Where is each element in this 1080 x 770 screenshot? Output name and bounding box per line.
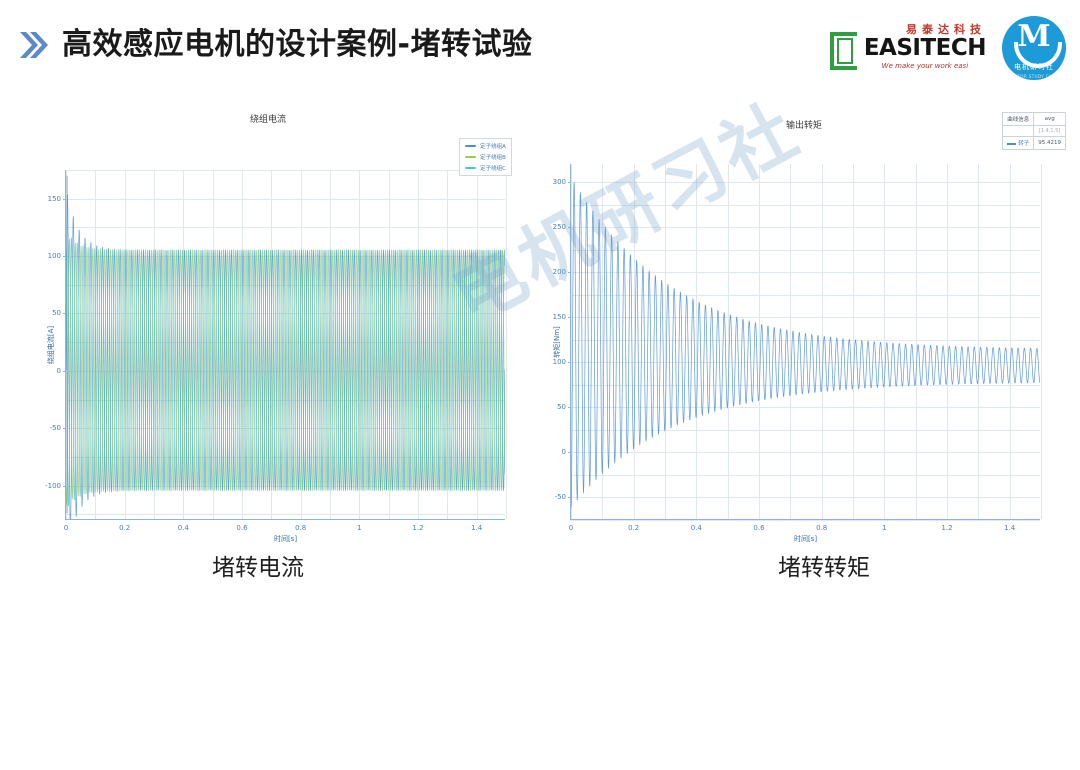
x-tick-winding-current: 0.8 [295, 519, 306, 532]
x-tick-output-torque: 0.6 [753, 519, 764, 532]
x-tick-winding-current: 1 [357, 519, 361, 532]
y-axis-label-torque: 转矩[Nm] [552, 326, 562, 358]
table-subheader-row: [1.4,1.5] [1003, 126, 1066, 137]
waveform-torque [571, 164, 1040, 519]
double-chevron-right-icon [18, 28, 48, 62]
header-avg: avg [1034, 113, 1066, 126]
logo-english-subtitle: MOTOR STUDY CLUB [1002, 74, 1066, 79]
figure-output-torque: 输出转矩 转矩[Nm] 时间[s] -500501001502002503000… [540, 112, 1068, 532]
y-tick-output-torque: 100 [553, 358, 571, 366]
header-curve-info: 曲线信息 [1003, 113, 1034, 126]
legend-label-phase-b: 定子绕组B [480, 153, 506, 161]
table-header-row: 曲线信息 avg [1003, 113, 1066, 126]
x-tick-output-torque: 0.4 [691, 519, 702, 532]
motor-study-club-logo: M 电机研习社 MOTOR STUDY CLUB [1002, 16, 1066, 80]
legend-item-phase-b[interactable]: 定子绕组B [465, 153, 506, 161]
x-tick-output-torque: 0.8 [816, 519, 827, 532]
x-tick-winding-current: 0 [64, 519, 68, 532]
easitech-chinese-name: 易泰达科技 [864, 24, 986, 35]
slide-header: 高效感应电机的设计案例-堵转试验 易泰达科技 EASITECH We make … [0, 0, 1080, 100]
x-tick-winding-current: 0.6 [236, 519, 247, 532]
plot-area-torque: 转矩[Nm] 时间[s] -5005010015020025030000.20.… [570, 164, 1040, 520]
legend-swatch-phase-c [465, 167, 476, 169]
x-axis-label-torque: 时间[s] [794, 534, 817, 544]
easitech-door-mark-icon [830, 32, 860, 72]
y-tick-winding-current: 150 [48, 195, 66, 203]
x-tick-output-torque: 0.2 [628, 519, 639, 532]
plot-area-current: 绕组电流[A] 时间[s] -100-5005010015000.20.40.6… [65, 170, 505, 520]
table-swatch-rotor [1007, 143, 1016, 145]
caption-stall-torque: 堵转转矩 [778, 548, 870, 582]
y-tick-winding-current: 0 [57, 367, 66, 375]
logo-area: 易泰达科技 EASITECH We make your work easi M … [830, 16, 1066, 80]
y-tick-output-torque: 50 [557, 403, 571, 411]
easitech-english-name: EASITECH [864, 37, 986, 60]
page-title: 高效感应电机的设计案例-堵转试验 [62, 30, 532, 60]
table-row[interactable]: 转子 95.4219 [1003, 137, 1066, 150]
chart-title-torque: 输出转矩 [540, 118, 1068, 131]
legend-item-phase-a[interactable]: 定子绕组A [465, 142, 506, 150]
legend-swatch-phase-a [465, 145, 476, 147]
y-tick-output-torque: 150 [553, 313, 571, 321]
legend-item-phase-c[interactable]: 定子绕组C [465, 164, 506, 172]
x-tick-winding-current: 1.2 [412, 519, 423, 532]
legend-label-phase-a: 定子绕组A [480, 142, 506, 150]
subheader-range: [1.4,1.5] [1034, 126, 1066, 137]
waveform-current [66, 170, 505, 519]
logo-chinese-subtitle: 电机研习社 [1002, 62, 1066, 72]
cell-curve-label: 转子 [1018, 141, 1029, 147]
figure-winding-current: 绕组电流 绕组电流[A] 时间[s] -100-5005010015000.20… [22, 112, 514, 532]
cell-avg-value: 95.4219 [1034, 137, 1066, 150]
x-tick-winding-current: 0.2 [119, 519, 130, 532]
x-tick-output-torque: 0 [569, 519, 573, 532]
x-tick-output-torque: 1.2 [941, 519, 952, 532]
x-tick-output-torque: 1 [882, 519, 886, 532]
y-tick-output-torque: 250 [553, 223, 571, 231]
x-tick-winding-current: 1.4 [471, 519, 482, 532]
x-tick-winding-current: 0.4 [178, 519, 189, 532]
curve-info-table[interactable]: 曲线信息 avg [1.4,1.5] 转子 95.4219 [1002, 112, 1066, 150]
y-tick-output-torque: 200 [553, 268, 571, 276]
y-tick-winding-current: -50 [50, 424, 66, 432]
caption-stall-current: 堵转电流 [212, 548, 304, 582]
x-axis-label-current: 时间[s] [274, 534, 297, 544]
title-block: 高效感应电机的设计案例-堵转试验 [18, 28, 532, 62]
cell-curve-name: 转子 [1003, 137, 1034, 150]
y-tick-winding-current: 100 [48, 252, 66, 260]
easitech-logo: 易泰达科技 EASITECH We make your work easi [830, 24, 986, 72]
legend-current[interactable]: 定子绕组A 定子绕组B 定子绕组C [459, 138, 512, 176]
y-axis-label-current: 绕组电流[A] [46, 325, 56, 363]
legend-label-phase-c: 定子绕组C [480, 164, 506, 172]
legend-swatch-phase-b [465, 156, 476, 158]
x-tick-output-torque: 1.4 [1004, 519, 1015, 532]
y-tick-output-torque: -50 [555, 493, 571, 501]
y-tick-output-torque: 300 [553, 178, 571, 186]
y-tick-winding-current: -100 [45, 482, 66, 490]
subheader-blank [1003, 126, 1034, 137]
y-tick-output-torque: 0 [562, 448, 571, 456]
easitech-tagline: We make your work easi [864, 63, 986, 70]
chart-title-current: 绕组电流 [22, 112, 514, 125]
y-tick-winding-current: 50 [52, 309, 66, 317]
